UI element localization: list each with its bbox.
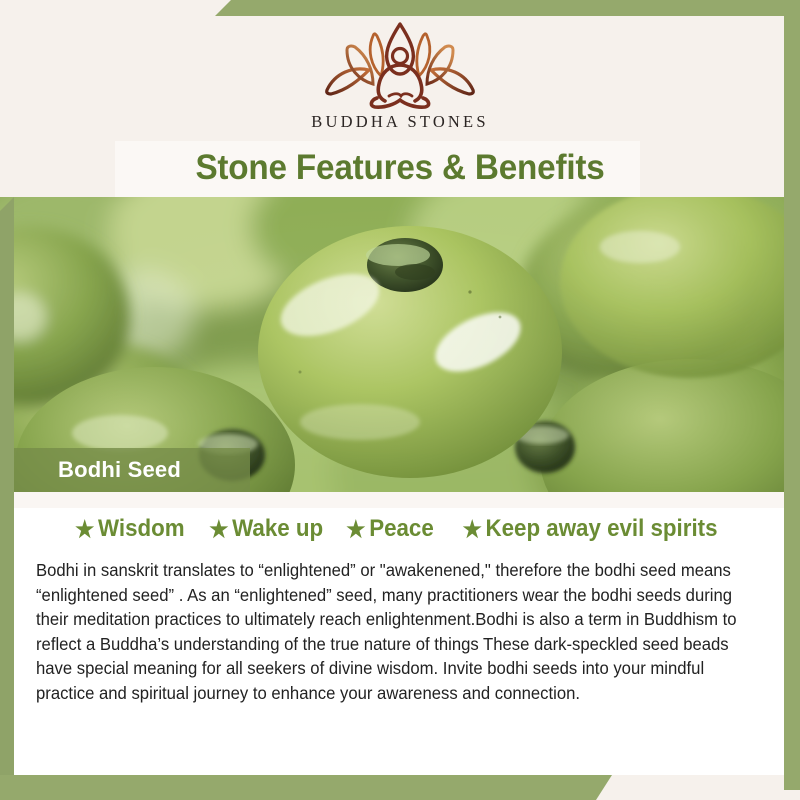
- description-paragraph: Bodhi in sanskrit translates to “enlight…: [36, 558, 742, 706]
- frame-band-right: [784, 0, 800, 790]
- page-title: Stone Features & Benefits: [20, 142, 780, 194]
- benefit-label: Wisdom: [98, 515, 185, 543]
- benefit-item-peace: ★ Peace: [346, 515, 433, 543]
- photo-caption-text: Bodhi Seed: [58, 457, 181, 483]
- benefit-item-wake-up: ★ Wake up: [209, 515, 323, 543]
- lotus-meditation-figure-icon: [315, 18, 485, 110]
- benefit-label: Wake up: [232, 515, 323, 543]
- benefit-item-wisdom: ★ Wisdom: [75, 515, 185, 543]
- benefits-row: ★ Wisdom ★ Wake up ★ Peace ★ Keep away e…: [14, 515, 784, 543]
- frame-band-left: [0, 197, 14, 800]
- content-panel: ★ Wisdom ★ Wake up ★ Peace ★ Keep away e…: [14, 492, 784, 775]
- star-icon: ★: [346, 518, 365, 541]
- star-icon: ★: [463, 518, 482, 541]
- photo-caption-bar: Bodhi Seed: [0, 448, 250, 492]
- star-icon: ★: [209, 518, 228, 541]
- frame-band-top: [215, 0, 800, 16]
- poster-root: BUDDHA STONES Stone Features & Benefits: [0, 0, 800, 800]
- brand-logo: BUDDHA STONES: [0, 18, 800, 132]
- benefit-item-keep-away-evil-spirits: ★ Keep away evil spirits: [463, 515, 718, 543]
- benefit-label: Peace: [369, 515, 434, 543]
- star-icon: ★: [75, 518, 94, 541]
- benefit-label: Keep away evil spirits: [486, 515, 718, 543]
- content-top-fade: [14, 492, 784, 508]
- frame-band-bottom: [0, 775, 612, 800]
- brand-wordmark: BUDDHA STONES: [311, 112, 488, 132]
